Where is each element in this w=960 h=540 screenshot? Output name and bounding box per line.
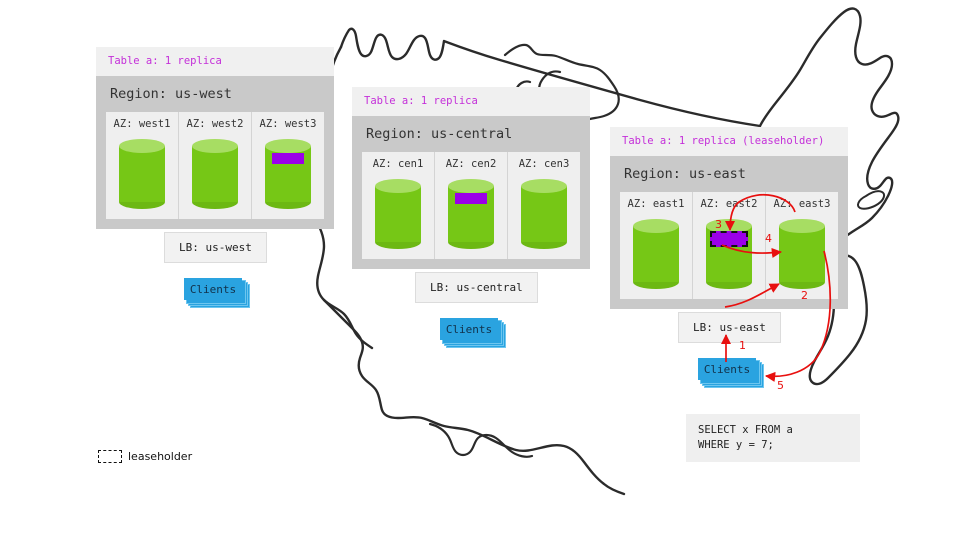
az-label-west1: AZ: west1 xyxy=(114,119,171,130)
az-west3[interactable]: AZ: west3 xyxy=(252,112,324,219)
az-label-west3: AZ: west3 xyxy=(260,119,317,130)
load-balancer-us-east[interactable]: LB: us-east xyxy=(678,312,781,343)
cylinder-body xyxy=(521,186,567,242)
flow-step-number-1: 1 xyxy=(739,340,746,351)
cylinder-body xyxy=(119,146,165,202)
node-cylinder-cen2[interactable] xyxy=(448,179,494,249)
az-west2[interactable]: AZ: west2 xyxy=(179,112,252,219)
az-label-cen2: AZ: cen2 xyxy=(446,159,497,170)
az-label-east2: AZ: east2 xyxy=(701,199,758,210)
az-row-us-west: AZ: west1 AZ: west2 xyxy=(106,112,324,219)
node-cylinder-east3[interactable] xyxy=(779,219,825,289)
cylinder-body xyxy=(375,186,421,242)
az-row-us-central: AZ: cen1 AZ: cen2 xyxy=(362,152,580,259)
clients-label-us-east[interactable]: Clients xyxy=(698,358,756,380)
load-balancer-us-west[interactable]: LB: us-west xyxy=(164,232,267,263)
sql-query-note: SELECT x FROM a WHERE y = 7; xyxy=(686,414,860,462)
cylinder-top xyxy=(779,219,825,233)
az-east2[interactable]: AZ: east2 xyxy=(693,192,766,299)
region-title-us-west: Region: us-west xyxy=(106,76,324,113)
region-title-us-central: Region: us-central xyxy=(362,116,580,153)
range-replica-cen2[interactable] xyxy=(455,193,487,204)
dashed-rect-icon xyxy=(98,450,122,463)
az-label-cen3: AZ: cen3 xyxy=(519,159,570,170)
region-title-us-east: Region: us-east xyxy=(620,156,838,193)
node-cylinder-east1[interactable] xyxy=(633,219,679,289)
region-panel-us-east: Table a: 1 replica (leaseholder) Region:… xyxy=(610,127,848,309)
clients-stack-us-west[interactable]: Clients xyxy=(184,278,248,304)
replica-label-us-east: Table a: 1 replica (leaseholder) xyxy=(610,127,848,156)
az-west1[interactable]: AZ: west1 xyxy=(106,112,179,219)
node-cylinder-west2[interactable] xyxy=(192,139,238,209)
node-cylinder-east2[interactable] xyxy=(706,219,752,289)
flow-step-number-4: 4 xyxy=(765,233,772,244)
node-cylinder-west3[interactable] xyxy=(265,139,311,209)
az-east3[interactable]: AZ: east3 xyxy=(766,192,838,299)
flow-step-number-3: 3 xyxy=(715,219,722,230)
region-panel-us-west: Table a: 1 replica Region: us-west AZ: w… xyxy=(96,47,334,229)
cylinder-body xyxy=(633,226,679,282)
cylinder-body xyxy=(779,226,825,282)
cylinder-top xyxy=(521,179,567,193)
cylinder-body xyxy=(192,146,238,202)
diagram-canvas: 1 2 3 4 5 Table a: 1 replica Region: us-… xyxy=(0,0,960,540)
replica-label-us-central: Table a: 1 replica xyxy=(352,87,590,116)
az-label-west2: AZ: west2 xyxy=(187,119,244,130)
node-cylinder-west1[interactable] xyxy=(119,139,165,209)
range-replica-west3[interactable] xyxy=(272,153,304,164)
cylinder-top xyxy=(119,139,165,153)
clients-label-us-west[interactable]: Clients xyxy=(184,278,242,300)
leaseholder-replica-east2[interactable] xyxy=(710,231,748,247)
clients-stack-us-east[interactable]: Clients xyxy=(698,358,762,384)
cylinder-top xyxy=(192,139,238,153)
cylinder-top xyxy=(265,139,311,153)
az-cen3[interactable]: AZ: cen3 xyxy=(508,152,580,259)
legend: leaseholder xyxy=(98,450,192,463)
flow-step-number-2: 2 xyxy=(801,290,808,301)
node-cylinder-cen1[interactable] xyxy=(375,179,421,249)
clients-stack-us-central[interactable]: Clients xyxy=(440,318,504,344)
replica-label-us-west: Table a: 1 replica xyxy=(96,47,334,76)
cylinder-top xyxy=(375,179,421,193)
flow-step-number-5: 5 xyxy=(777,380,784,391)
cylinder-top xyxy=(633,219,679,233)
node-cylinder-cen3[interactable] xyxy=(521,179,567,249)
legend-label: leaseholder xyxy=(128,451,192,462)
az-label-cen1: AZ: cen1 xyxy=(373,159,424,170)
az-label-east3: AZ: east3 xyxy=(774,199,831,210)
az-row-us-east: AZ: east1 AZ: east2 xyxy=(620,192,838,299)
az-east1[interactable]: AZ: east1 xyxy=(620,192,693,299)
az-cen1[interactable]: AZ: cen1 xyxy=(362,152,435,259)
region-panel-us-central: Table a: 1 replica Region: us-central AZ… xyxy=(352,87,590,269)
az-label-east1: AZ: east1 xyxy=(628,199,685,210)
cylinder-top xyxy=(448,179,494,193)
az-cen2[interactable]: AZ: cen2 xyxy=(435,152,508,259)
clients-label-us-central[interactable]: Clients xyxy=(440,318,498,340)
load-balancer-us-central[interactable]: LB: us-central xyxy=(415,272,538,303)
